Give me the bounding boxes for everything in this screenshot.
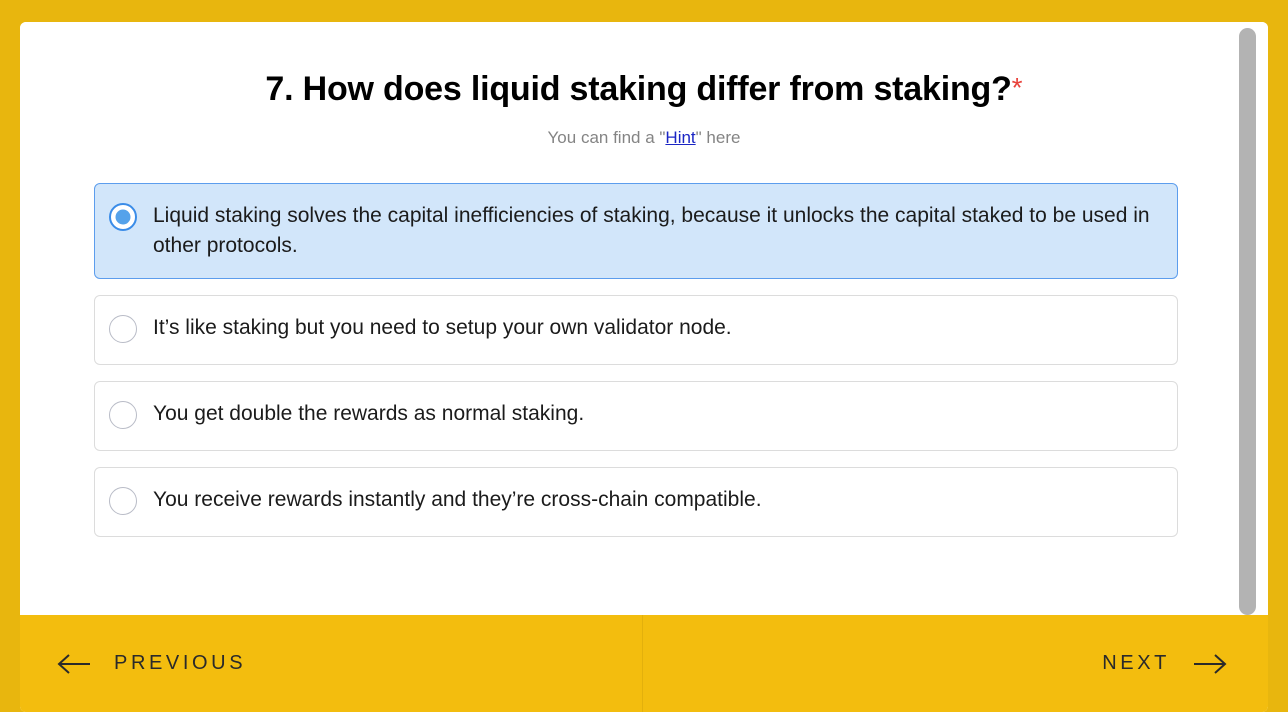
required-asterisk: * [1012, 72, 1023, 103]
question-scroll-area: 7. How does liquid staking differ from s… [20, 22, 1268, 615]
option-label-1: Liquid staking solves the capital ineffi… [153, 200, 1159, 262]
previous-button-label: PREVIOUS [114, 652, 246, 675]
radio-button-icon-3[interactable] [109, 401, 137, 429]
option-label-4: You receive rewards instantly and they’r… [153, 484, 762, 515]
scrollbar-thumb[interactable] [1239, 28, 1256, 615]
option-label-2: It’s like staking but you need to setup … [153, 312, 732, 343]
previous-button[interactable]: PREVIOUS [20, 615, 643, 712]
hint-line: You can find a "Hint" here [20, 128, 1268, 148]
radio-button-icon-2[interactable] [109, 315, 137, 343]
radio-button-icon-1[interactable] [109, 203, 137, 231]
arrow-right-icon [1192, 653, 1228, 675]
hint-text-before: You can find a " [548, 128, 666, 147]
option-row-1[interactable]: Liquid staking solves the capital ineffi… [94, 183, 1178, 279]
option-label-3: You get double the rewards as normal sta… [153, 398, 584, 429]
scrollbar-track[interactable] [1244, 22, 1262, 615]
answer-options-list: Liquid staking solves the capital ineffi… [94, 183, 1178, 553]
option-row-2[interactable]: It’s like staking but you need to setup … [94, 295, 1178, 365]
question-header: 7. How does liquid staking differ from s… [20, 22, 1268, 109]
quiz-card: 7. How does liquid staking differ from s… [20, 22, 1268, 712]
next-button-label: NEXT [1102, 652, 1170, 675]
option-row-3[interactable]: You get double the rewards as normal sta… [94, 381, 1178, 451]
hint-text-after: " here [696, 128, 741, 147]
arrow-left-icon [56, 653, 92, 675]
hint-link[interactable]: Hint [665, 128, 695, 147]
footer-navigation: PREVIOUS NEXT [20, 615, 1268, 712]
radio-button-icon-4[interactable] [109, 487, 137, 515]
option-row-4[interactable]: You receive rewards instantly and they’r… [94, 467, 1178, 537]
next-button[interactable]: NEXT [643, 615, 1268, 712]
page-title: 7. How does liquid staking differ from s… [265, 70, 1011, 108]
